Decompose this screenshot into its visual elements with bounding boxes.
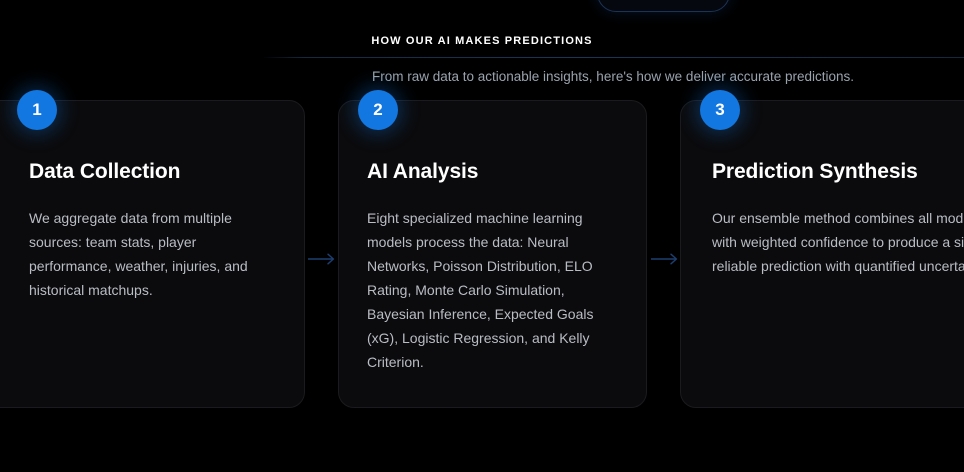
- section-subtitle: From raw data to actionable insights, he…: [262, 68, 964, 86]
- step-number-badge-1: 1: [17, 90, 57, 130]
- step-card-1[interactable]: Data Collection We aggregate data from m…: [0, 100, 305, 408]
- step-title: AI Analysis: [367, 159, 618, 185]
- step-title: Prediction Synthesis: [712, 159, 964, 185]
- steps-row: Data Collection We aggregate data from m…: [0, 100, 964, 410]
- header-divider: [262, 57, 964, 58]
- arrow-right-icon: [308, 252, 338, 266]
- arrow-right-icon: [651, 252, 681, 266]
- top-badge-pill: [597, 0, 730, 12]
- step-card-2[interactable]: AI Analysis Eight specialized machine le…: [338, 100, 647, 408]
- step-number-badge-2: 2: [358, 90, 398, 130]
- how-it-works-section: HOW OUR AI MAKES PREDICTIONS From raw da…: [0, 0, 964, 472]
- step-description: Eight specialized machine learning model…: [367, 206, 618, 374]
- step-title: Data Collection: [29, 159, 274, 185]
- step-card-3[interactable]: Prediction Synthesis Our ensemble method…: [680, 100, 964, 408]
- step-description: Our ensemble method combines all models …: [712, 206, 964, 278]
- step-number-badge-3: 3: [700, 90, 740, 130]
- section-kicker: HOW OUR AI MAKES PREDICTIONS: [0, 35, 964, 47]
- step-description: We aggregate data from multiple sources:…: [29, 206, 274, 302]
